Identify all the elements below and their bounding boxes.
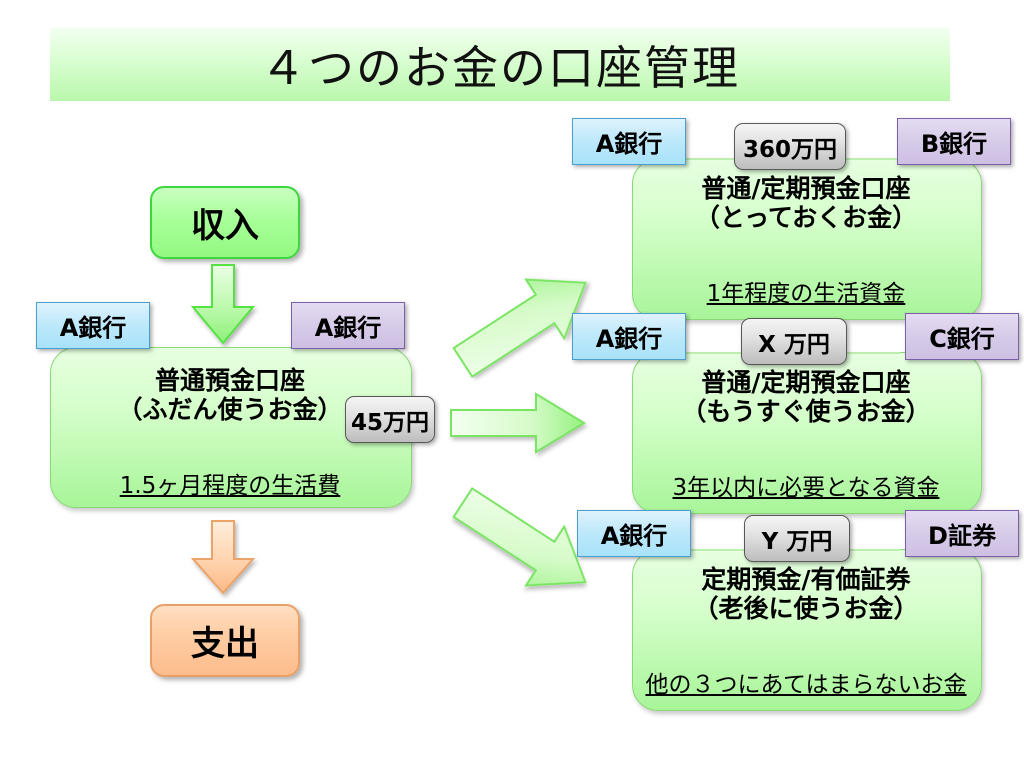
badge-amount-everyday[interactable]: 45万円	[345, 396, 435, 443]
chip-bank-1-left[interactable]: A銀行	[572, 118, 686, 165]
account-panel-3-title-line2: （老後に使うお金）	[632, 594, 980, 623]
account-panel-1-title-line1: 普通/定期預金口座	[632, 174, 980, 203]
badge-amount-3-label: Y 万円	[762, 522, 833, 556]
account-panel-2-title-line1: 普通/定期預金口座	[632, 368, 980, 397]
account-panel-2-title-line2: （もうすぐ使うお金）	[632, 397, 980, 426]
account-panel-2-title: 普通/定期預金口座 （もうすぐ使うお金）	[632, 368, 980, 426]
badge-amount-2[interactable]: X 万円	[741, 318, 847, 365]
page-title: ４つのお金の口座管理	[260, 32, 740, 98]
account-panel-1-note: 1年程度の生活資金	[632, 274, 980, 308]
chip-bank-3-right-label: D証券	[928, 516, 996, 551]
chip-bank-1-left-label: A銀行	[596, 124, 663, 159]
chip-bank-3-left-label: A銀行	[601, 516, 668, 551]
chip-bank-2-right-label: C銀行	[929, 319, 995, 354]
chip-bank-3-left[interactable]: A銀行	[577, 510, 691, 557]
account-panel-3-title-line1: 定期預金/有価証券	[632, 565, 980, 594]
chip-bank-2-left[interactable]: A銀行	[572, 313, 686, 360]
account-panel-2-note: 3年以内に必要となる資金	[632, 468, 980, 502]
arrow-to-account-2	[448, 392, 588, 454]
chip-bank-1-right[interactable]: B銀行	[897, 118, 1011, 165]
slide-canvas: ４つのお金の口座管理 収入 普通預金口座 （ふだん使うお金） 1.5ヶ月程度の生…	[0, 0, 1024, 765]
income-box[interactable]: 収入	[150, 186, 300, 259]
chip-bank-everyday-left-label: A銀行	[60, 308, 127, 343]
expense-box[interactable]: 支出	[150, 604, 300, 677]
badge-amount-3[interactable]: Y 万円	[744, 515, 850, 562]
everyday-account-title-line1: 普通預金口座	[50, 366, 410, 395]
down-arrow-income	[191, 265, 255, 345]
chip-bank-everyday-left[interactable]: A銀行	[36, 302, 150, 349]
chip-bank-3-right[interactable]: D証券	[905, 510, 1019, 557]
chip-bank-everyday-right[interactable]: A銀行	[291, 302, 405, 349]
everyday-account-note: 1.5ヶ月程度の生活費	[50, 466, 410, 500]
down-arrow-expense	[191, 521, 255, 595]
badge-amount-2-label: X 万円	[758, 325, 830, 359]
badge-amount-1[interactable]: 360万円	[734, 123, 846, 170]
chip-bank-everyday-right-label: A銀行	[315, 308, 382, 343]
chip-bank-2-right[interactable]: C銀行	[905, 313, 1019, 360]
expense-label: 支出	[191, 616, 259, 665]
account-panel-3-title: 定期預金/有価証券 （老後に使うお金）	[632, 565, 980, 623]
account-panel-3-note: 他の３つにあてはまらないお金	[632, 665, 980, 699]
account-panel-1-title-line2: （とっておくお金）	[632, 203, 980, 232]
badge-amount-1-label: 360万円	[743, 130, 837, 164]
account-panel-1-title: 普通/定期預金口座 （とっておくお金）	[632, 174, 980, 232]
title-banner: ４つのお金の口座管理	[50, 28, 950, 101]
badge-amount-everyday-label: 45万円	[351, 403, 429, 437]
chip-bank-2-left-label: A銀行	[596, 319, 663, 354]
income-label: 収入	[191, 198, 259, 247]
chip-bank-1-right-label: B銀行	[921, 124, 987, 159]
